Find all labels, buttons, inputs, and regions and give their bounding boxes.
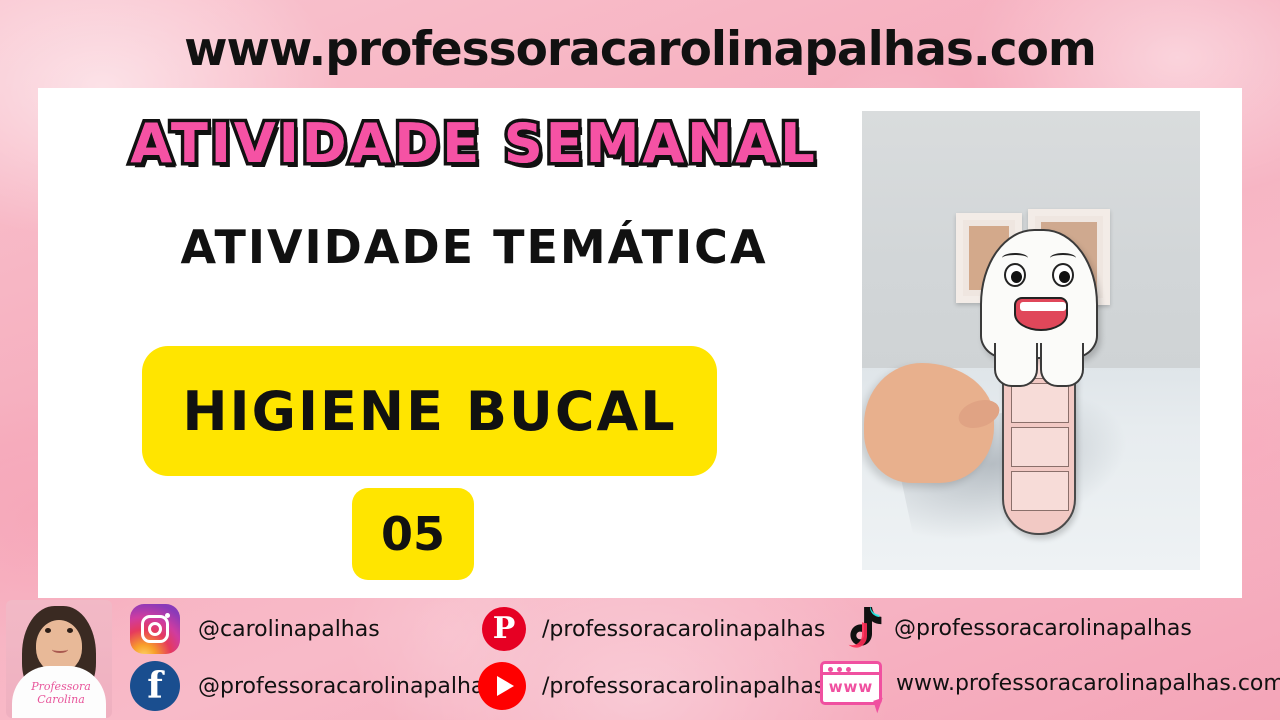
eyelash-right — [1050, 253, 1076, 263]
youtube-icon[interactable] — [478, 662, 526, 710]
social-row-instagram[interactable]: @carolinapalhas — [130, 604, 380, 654]
social-row-youtube[interactable]: /professoracarolinapalhas — [478, 662, 825, 710]
theme-pill: HIGIENE BUCAL — [142, 346, 717, 476]
number-box: 05 — [352, 488, 474, 580]
social-row-pinterest[interactable]: P /professoracarolinapalhas — [482, 607, 825, 651]
pinterest-handle: /professoracarolinapalhas — [542, 617, 825, 642]
eyelash-left — [1002, 253, 1028, 263]
facebook-handle: @professoracarolinapalhas — [198, 674, 496, 699]
website-icon[interactable]: www — [820, 661, 882, 705]
website-handle: www.professoracarolinapalhas.com — [896, 671, 1280, 696]
tiktok-icon[interactable] — [832, 601, 886, 655]
social-row-tiktok[interactable]: @professoracarolinapalhas — [832, 601, 1192, 655]
activity-photo — [862, 111, 1200, 570]
subtitle: ATIVIDADE TEMÁTICA — [94, 220, 854, 274]
avatar-logo-line1: Professora — [31, 680, 91, 693]
site-url-header: www.professoracarolinapalhas.com — [0, 22, 1280, 77]
pinterest-icon[interactable]: P — [482, 607, 526, 651]
avatar-eye-right — [67, 628, 73, 633]
content-card: ATIVIDADE SEMANAL ATIVIDADE SEMANAL ATIV… — [38, 88, 1242, 598]
tongue-cell — [1011, 427, 1069, 467]
youtube-handle: /professoracarolinapalhas — [542, 674, 825, 699]
social-row-website[interactable]: www www.professoracarolinapalhas.com — [820, 661, 1280, 705]
eye-left — [1004, 263, 1026, 287]
avatar-smile — [52, 646, 68, 653]
activity-number: 05 — [381, 507, 445, 561]
facebook-icon[interactable]: f — [130, 661, 180, 711]
tongue-cell — [1011, 383, 1069, 423]
social-row-facebook[interactable]: f @professoracarolinapalhas — [130, 661, 496, 711]
avatar-logo-line2: Carolina — [37, 693, 85, 706]
tongue-cell — [1011, 471, 1069, 511]
footer: Professora Carolina @carolinapalhas f @p… — [0, 598, 1280, 720]
avatar-eye-left — [45, 628, 51, 633]
tiktok-handle: @professoracarolinapalhas — [894, 616, 1192, 641]
eye-right — [1052, 263, 1074, 287]
avatar: Professora Carolina — [6, 600, 112, 718]
instagram-icon[interactable] — [130, 604, 180, 654]
paper-tooth — [980, 229, 1098, 359]
theme-label: HIGIENE BUCAL — [182, 380, 676, 443]
instagram-handle: @carolinapalhas — [198, 617, 380, 642]
mouth — [1014, 297, 1068, 331]
main-title-outline: ATIVIDADE SEMANAL — [94, 112, 854, 175]
avatar-logo: Professora Carolina — [28, 680, 94, 708]
